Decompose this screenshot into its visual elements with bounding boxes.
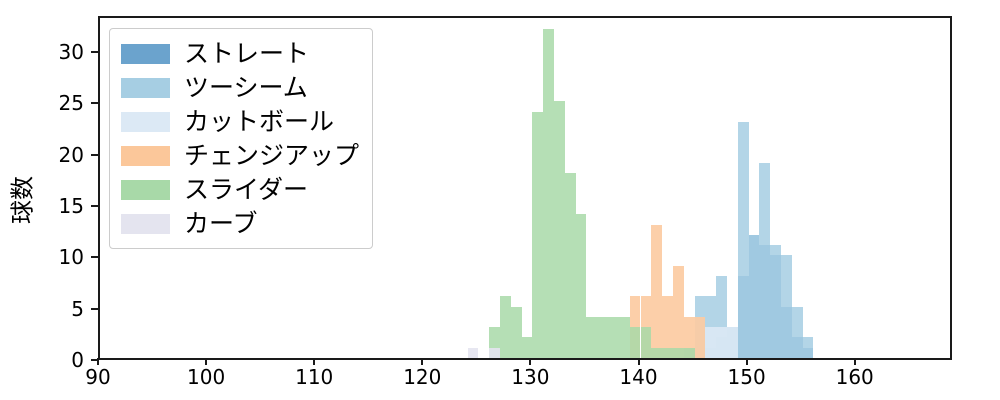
y-axis-tick-label: 0 (44, 350, 84, 370)
histogram-bar (727, 327, 738, 358)
legend-item[interactable]: スライダー (121, 174, 359, 205)
y-axis-tick-label: 15 (44, 196, 84, 216)
legend-swatch (121, 78, 170, 98)
histogram-bar (673, 266, 684, 358)
legend-item[interactable]: ツーシーム (121, 72, 359, 103)
y-axis-label: 球数 (3, 176, 38, 224)
histogram-bar (651, 348, 662, 358)
histogram-bar (468, 348, 479, 358)
legend: ストレートツーシームカットボールチェンジアップスライダーカーブ (109, 28, 373, 249)
histogram-bar (738, 122, 749, 358)
legend-item-label: ツーシーム (184, 75, 308, 100)
y-axis-tick (91, 102, 98, 104)
y-axis-tick-label: 20 (44, 145, 84, 165)
histogram-bar (511, 307, 522, 358)
x-axis-tick-label: 110 (295, 367, 333, 387)
histogram-bar (781, 255, 792, 358)
histogram-bar (522, 337, 533, 358)
y-axis-tick (91, 51, 98, 53)
histogram-bar (619, 317, 630, 358)
histogram-bar (716, 327, 727, 358)
y-axis-tick (91, 256, 98, 258)
y-axis-tick-label: 30 (44, 42, 84, 62)
x-axis-tick-label: 160 (836, 367, 874, 387)
histogram-bar (705, 327, 716, 358)
histogram-bar (695, 317, 706, 358)
histogram-bar (651, 225, 662, 358)
histogram-bar (576, 214, 587, 358)
legend-swatch (121, 112, 170, 132)
histogram-bar (554, 101, 565, 358)
histogram-bar (532, 112, 543, 358)
x-axis-tick-label: 130 (511, 367, 549, 387)
histogram-bar (586, 317, 597, 358)
legend-item-label: ストレート (184, 41, 309, 66)
histogram-bar (803, 337, 814, 358)
legend-item-label: カーブ (184, 211, 258, 236)
legend-item-label: スライダー (184, 177, 308, 202)
x-axis-tick-label: 150 (728, 367, 766, 387)
histogram-bar (608, 317, 619, 358)
histogram-bar (489, 348, 500, 358)
legend-swatch (121, 146, 170, 166)
histogram-bar (684, 348, 695, 358)
histogram-bar (770, 245, 781, 358)
histogram-bar (500, 296, 511, 358)
histogram-bar (543, 29, 554, 358)
histogram-bar (759, 163, 770, 358)
histogram-bar (792, 307, 803, 358)
histogram-bar (597, 317, 608, 358)
x-axis-tick-label: 90 (85, 367, 110, 387)
histogram-bar (641, 327, 652, 358)
y-axis-tick-label: 5 (44, 299, 84, 319)
histogram-bar (630, 327, 641, 358)
y-axis-tick-label: 10 (44, 247, 84, 267)
legend-item[interactable]: チェンジアップ (121, 140, 359, 171)
histogram-bar (749, 235, 760, 358)
y-axis-tick (91, 154, 98, 156)
histogram-bar (565, 173, 576, 358)
x-axis-tick-label: 140 (619, 367, 657, 387)
pitch-velocity-histogram-figure: 球数 051015202530 90100110120130140150160 … (0, 0, 1000, 400)
legend-item[interactable]: カットボール (121, 106, 359, 137)
legend-swatch (121, 44, 170, 64)
y-axis-tick (91, 308, 98, 310)
y-axis-tick-label: 25 (44, 93, 84, 113)
legend-swatch (121, 214, 170, 234)
x-axis-tick-label: 120 (403, 367, 441, 387)
legend-item[interactable]: ストレート (121, 38, 359, 69)
y-axis-tick (91, 205, 98, 207)
histogram-bar (673, 348, 684, 358)
legend-item-label: チェンジアップ (184, 143, 359, 168)
x-axis-tick-label: 100 (187, 367, 225, 387)
legend-swatch (121, 180, 170, 200)
legend-item[interactable]: カーブ (121, 208, 359, 239)
histogram-bar (662, 348, 673, 358)
legend-item-label: カットボール (184, 109, 334, 134)
